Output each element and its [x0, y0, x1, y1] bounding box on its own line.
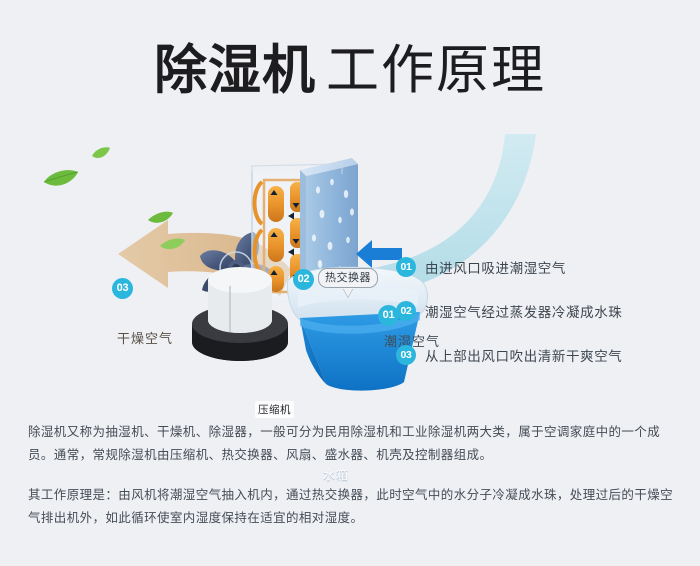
steps-list: 01 由进风口吸进潮湿空气 02 潮湿空气经过蒸发器冷凝成水珠 03 从上部出风… [396, 255, 696, 387]
step-badge-02: 02 [396, 301, 416, 321]
step-text-02: 潮湿空气经过蒸发器冷凝成水珠 [425, 301, 622, 321]
label-dry-air: 干燥空气 [117, 328, 173, 347]
label-compressor: 压缩机 [255, 401, 294, 418]
page-root: 除湿机工作原理 [0, 0, 700, 566]
list-item: 03 从上部出风口吹出清新干爽空气 [396, 343, 696, 367]
callout-heat-exchanger: 热交换器 [318, 268, 378, 288]
page-title-primary: 除湿机 [154, 40, 316, 101]
paragraph-2: 其工作原理是：由风机将潮湿空气抽入机内，通过热交换器，此时空气中的水分子冷凝成水… [28, 483, 676, 529]
page-title-secondary: 工作原理 [326, 40, 546, 101]
callout-tail-icon [343, 288, 353, 297]
list-item: 01 由进风口吸进潮湿空气 [396, 255, 696, 279]
list-item: 02 潮湿空气经过蒸发器冷凝成水珠 [396, 299, 696, 323]
body-copy: 除湿机又称为抽湿机、干燥机、除湿器，一般可分为民用除湿机和工业除湿机两大类，属于… [28, 420, 676, 529]
step-badge-03: 03 [396, 345, 416, 365]
diagram-badge-02: 02 [293, 269, 314, 290]
diagram-badge-03: 03 [112, 278, 133, 299]
paragraph-1: 除湿机又称为抽湿机、干燥机、除湿器，一般可分为民用除湿机和工业除湿机两大类，属于… [28, 420, 676, 466]
step-badge-01: 01 [396, 257, 416, 277]
step-text-01: 由进风口吸进潮湿空气 [425, 257, 566, 277]
step-text-03: 从上部出风口吹出清新干爽空气 [425, 345, 622, 365]
page-title: 除湿机工作原理 [0, 28, 700, 104]
